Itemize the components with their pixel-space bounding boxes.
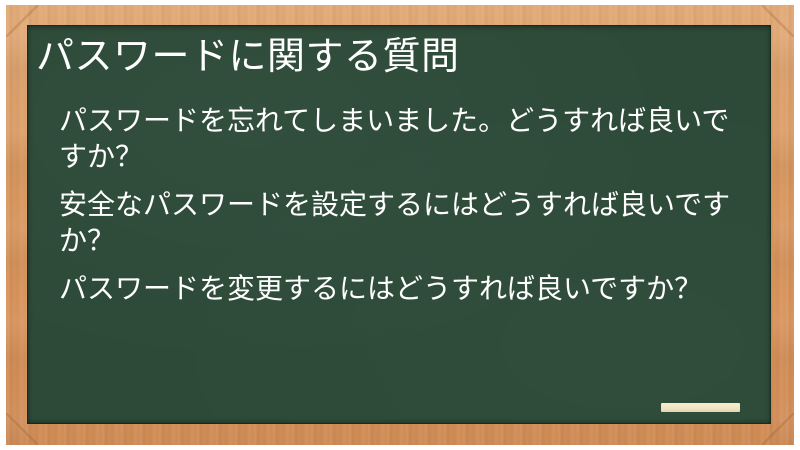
chalkboard-surface: パスワードに関する質問 パスワードを忘れてしまいました。どうすれば良いですか？ … xyxy=(27,25,771,424)
question-list-item: パスワードを変更するにはどうすれば良いですか？ xyxy=(59,271,745,307)
slide-canvas: パスワードに関する質問 パスワードを忘れてしまいました。どうすれば良いですか？ … xyxy=(0,0,800,450)
frame-left-stile xyxy=(6,5,27,445)
question-list-item: パスワードを忘れてしまいました。どうすれば良いですか？ xyxy=(59,103,745,175)
frame-right-stile xyxy=(773,5,794,445)
slide-title: パスワードに関する質問 xyxy=(36,34,756,80)
chalkboard-wooden-frame: パスワードに関する質問 パスワードを忘れてしまいました。どうすれば良いですか？ … xyxy=(6,5,794,445)
question-list-item: 安全なパスワードを設定するにはどうすれば良いですか？ xyxy=(59,187,745,259)
chalk-stick-icon xyxy=(661,403,740,412)
question-list: パスワードを忘れてしまいました。どうすれば良いですか？ 安全なパスワードを設定す… xyxy=(59,103,759,307)
